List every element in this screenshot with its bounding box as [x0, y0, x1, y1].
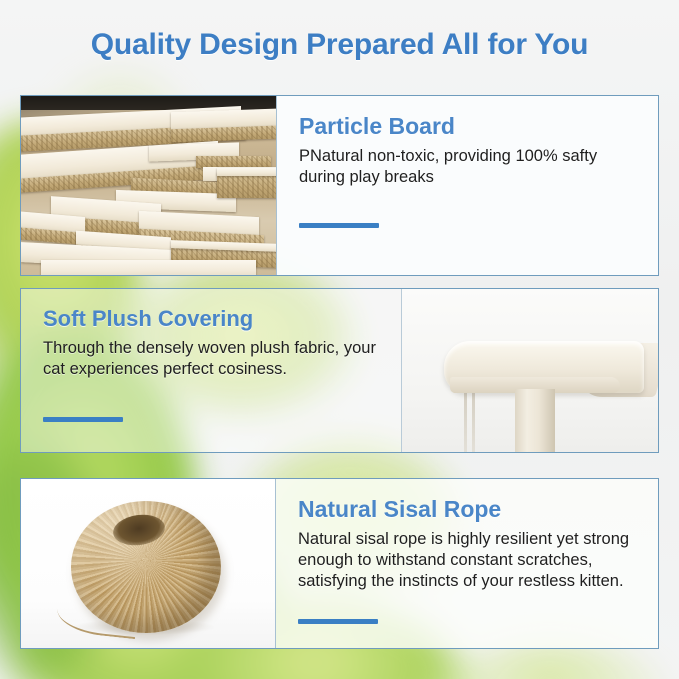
accent-underline — [43, 417, 123, 422]
particle-board-stack-photo — [21, 96, 277, 275]
feature-card-particle-board: Particle Board PNatural non-toxic, provi… — [20, 95, 659, 276]
infographic-page: Quality Design Prepared All for You — [0, 0, 679, 679]
card-title: Particle Board — [299, 114, 638, 139]
card-body: PNatural non-toxic, providing 100% safty… — [299, 146, 638, 188]
card-body: Natural sisal rope is highly resilient y… — [298, 529, 638, 592]
card-title: Soft Plush Covering — [43, 307, 381, 331]
sisal-rope-text-pane: Natural Sisal Rope Natural sisal rope is… — [276, 479, 658, 648]
card-title: Natural Sisal Rope — [298, 497, 638, 522]
feature-card-soft-plush-covering: Soft Plush Covering Through the densely … — [20, 288, 659, 453]
accent-underline — [299, 223, 379, 228]
particle-board-text-pane: Particle Board PNatural non-toxic, provi… — [277, 96, 658, 275]
sisal-rope-ball-photo — [21, 479, 276, 648]
page-title: Quality Design Prepared All for You — [0, 28, 679, 62]
plush-cat-perch-photo — [401, 289, 658, 452]
soft-plush-text-pane: Soft Plush Covering Through the densely … — [21, 289, 401, 452]
card-body: Through the densely woven plush fabric, … — [43, 338, 381, 380]
feature-card-natural-sisal-rope: Natural Sisal Rope Natural sisal rope is… — [20, 478, 659, 649]
accent-underline — [298, 619, 378, 624]
